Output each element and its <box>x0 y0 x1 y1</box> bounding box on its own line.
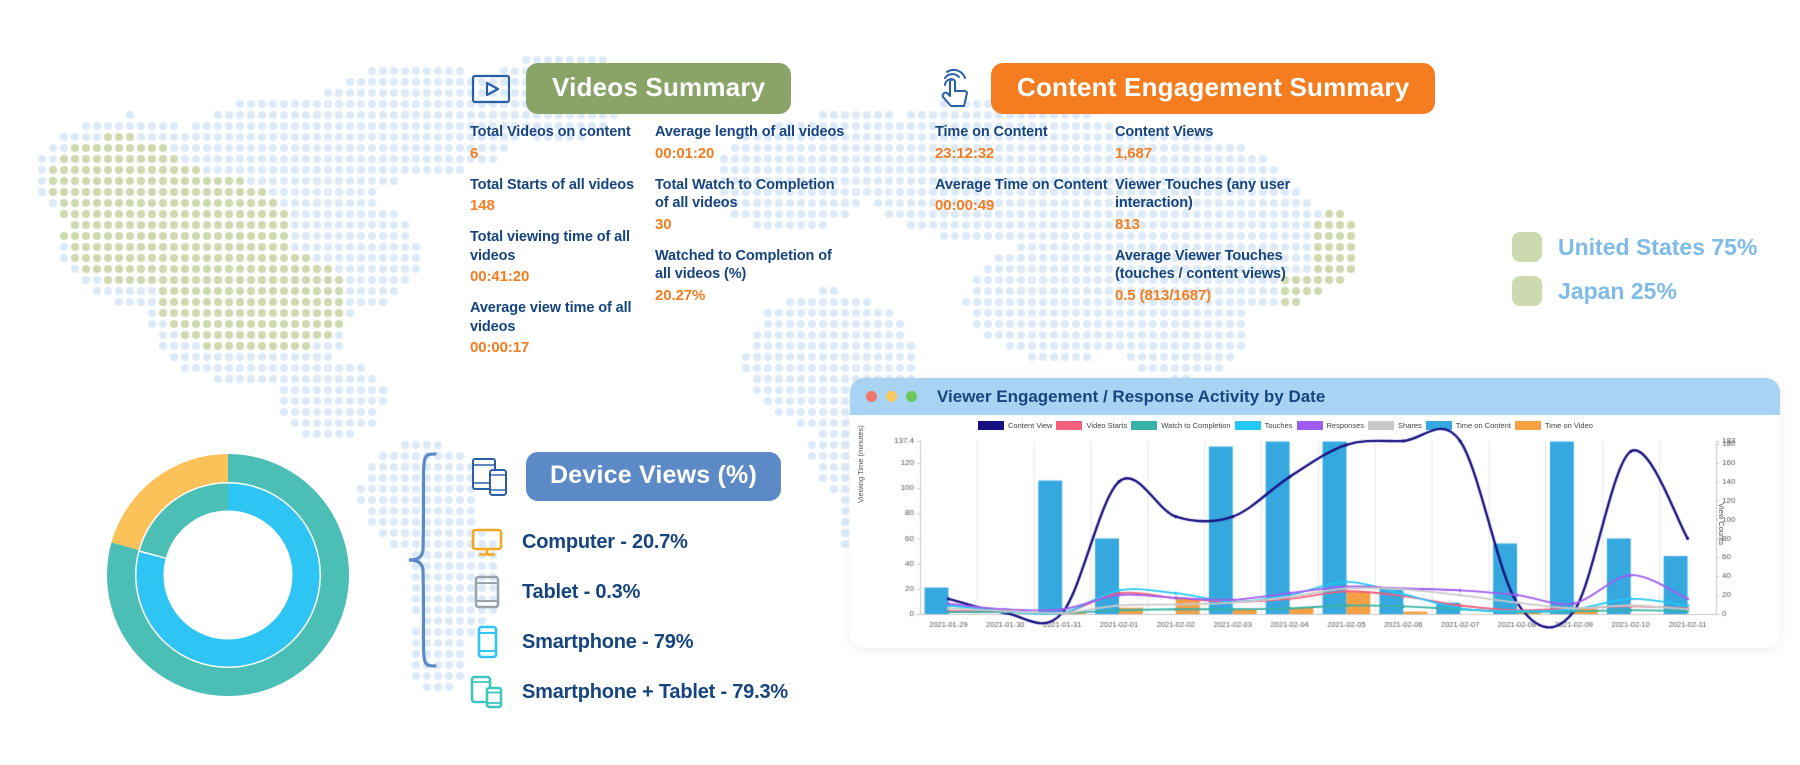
content-engagement-header: Content Engagement Summary <box>935 63 1435 114</box>
close-window-dot[interactable] <box>866 391 877 402</box>
minimize-window-dot[interactable] <box>886 391 897 402</box>
metric-label: Average length of all videos <box>655 123 845 142</box>
metric-total-watch-completion: Total Watch to Completion of all videos … <box>655 176 845 233</box>
country-swatch <box>1512 232 1542 262</box>
metric-label: Average view time of all videos <box>470 299 655 336</box>
metric-label: Total viewing time of all videos <box>470 228 655 265</box>
metric-value: 6 <box>470 145 655 162</box>
metric-average-time-on-content: Average Time on Content 00:00:49 <box>935 176 1115 215</box>
content-engagement-title: Content Engagement Summary <box>991 63 1435 114</box>
metric-label: Content Views <box>1115 123 1325 142</box>
metric-average-viewer-touches: Average Viewer Touches (touches / conten… <box>1115 247 1325 304</box>
chart-window: Viewer Engagement / Response Activity by… <box>850 378 1780 648</box>
dashboard-root: Videos Summary Total Videos on content 6… <box>0 0 1800 765</box>
metric-watched-completion-pct: Watched to Completion of all videos (%) … <box>655 247 845 304</box>
videos-metrics-column-1: Total Videos on content 6 Total Starts o… <box>470 123 655 370</box>
device-views-list: Computer - 20.7% Tablet - 0.3% <box>470 525 788 709</box>
chart-title: Viewer Engagement / Response Activity by… <box>937 387 1325 407</box>
device-label: Smartphone + Tablet - 79.3% <box>522 681 788 704</box>
content-engagement-metrics: Time on Content 23:12:32 Average Time on… <box>935 123 1325 318</box>
videos-summary-title: Videos Summary <box>526 63 791 114</box>
device-brace-decoration <box>405 450 441 670</box>
metric-label: Time on Content <box>935 123 1115 142</box>
device-row-tablet: Tablet - 0.3% <box>470 575 788 609</box>
maximize-window-dot[interactable] <box>906 391 917 402</box>
metric-value: 00:00:17 <box>470 339 655 356</box>
smartphone-icon <box>470 625 504 659</box>
country-swatch <box>1512 276 1542 306</box>
metric-label: Total Starts of all videos <box>470 176 655 195</box>
metric-label: Total Videos on content <box>470 123 655 142</box>
country-legend-item-united-states: United States 75% <box>1512 232 1757 262</box>
engagement-metrics-column-2: Content Views 1,687 Viewer Touches (any … <box>1115 123 1325 318</box>
videos-summary-header: Videos Summary <box>470 63 791 114</box>
metric-value: 1,687 <box>1115 145 1325 162</box>
play-video-icon <box>470 68 512 110</box>
device-label: Smartphone - 79% <box>522 631 693 654</box>
device-row-smartphone-tablet: Smartphone + Tablet - 79.3% <box>470 675 788 709</box>
device-views-section: Device Views (%) Computer - 20.7% <box>470 452 788 725</box>
metric-label: Viewer Touches (any user interaction) <box>1115 176 1325 213</box>
metric-average-view-time: Average view time of all videos 00:00:17 <box>470 299 655 356</box>
left-axis-title: Viewing Time (minutes) <box>856 425 865 503</box>
videos-summary-metrics: Total Videos on content 6 Total Starts o… <box>470 123 845 370</box>
engagement-metrics-column-1: Time on Content 23:12:32 Average Time on… <box>935 123 1115 318</box>
metric-label: Total Watch to Completion of all videos <box>655 176 845 213</box>
metric-value: 00:00:49 <box>935 197 1115 214</box>
metric-value: 30 <box>655 216 845 233</box>
metric-value: 23:12:32 <box>935 145 1115 162</box>
country-legend-label: Japan 25% <box>1558 278 1677 305</box>
smartphone-tablet-icon <box>470 675 504 709</box>
chart-window-titlebar: Viewer Engagement / Response Activity by… <box>850 378 1780 415</box>
country-legend-label: United States 75% <box>1558 234 1757 261</box>
metric-value: 20.27% <box>655 287 845 304</box>
country-legend: United States 75% Japan 25% <box>1512 232 1757 320</box>
metric-label: Average Time on Content <box>935 176 1115 195</box>
chart-body: Content ViewVideo StartsWatch to Complet… <box>850 415 1780 648</box>
metric-label: Average Viewer Touches (touches / conten… <box>1115 247 1325 284</box>
device-row-smartphone: Smartphone - 79% <box>470 625 788 659</box>
metric-label: Watched to Completion of all videos (%) <box>655 247 845 284</box>
country-legend-item-japan: Japan 25% <box>1512 276 1757 306</box>
device-views-donut-chart <box>103 450 353 700</box>
right-axis-title: View Counts <box>1717 503 1726 545</box>
metric-viewer-touches: Viewer Touches (any user interaction) 81… <box>1115 176 1325 233</box>
metric-time-on-content: Time on Content 23:12:32 <box>935 123 1115 162</box>
tablet-phone-icon <box>470 456 512 498</box>
metric-value: 813 <box>1115 216 1325 233</box>
metric-value: 00:41:20 <box>470 268 655 285</box>
videos-metrics-column-2: Average length of all videos 00:01:20 To… <box>655 123 845 370</box>
device-label: Computer - 20.7% <box>522 531 688 554</box>
metric-total-viewing-time: Total viewing time of all videos 00:41:2… <box>470 228 655 285</box>
metric-content-views: Content Views 1,687 <box>1115 123 1325 162</box>
device-label: Tablet - 0.3% <box>522 581 640 604</box>
metric-value: 0.5 (813/1687) <box>1115 287 1325 304</box>
device-views-title: Device Views (%) <box>526 452 781 501</box>
engagement-plot-canvas[interactable] <box>850 415 1780 648</box>
metric-total-videos: Total Videos on content 6 <box>470 123 655 162</box>
metric-total-starts: Total Starts of all videos 148 <box>470 176 655 215</box>
device-row-computer: Computer - 20.7% <box>470 525 788 559</box>
metric-value: 148 <box>470 197 655 214</box>
monitor-icon <box>470 525 504 559</box>
device-views-header: Device Views (%) <box>470 452 788 501</box>
metric-average-length: Average length of all videos 00:01:20 <box>655 123 845 162</box>
tablet-icon <box>470 575 504 609</box>
metric-value: 00:01:20 <box>655 145 845 162</box>
touch-hand-icon <box>935 68 977 110</box>
